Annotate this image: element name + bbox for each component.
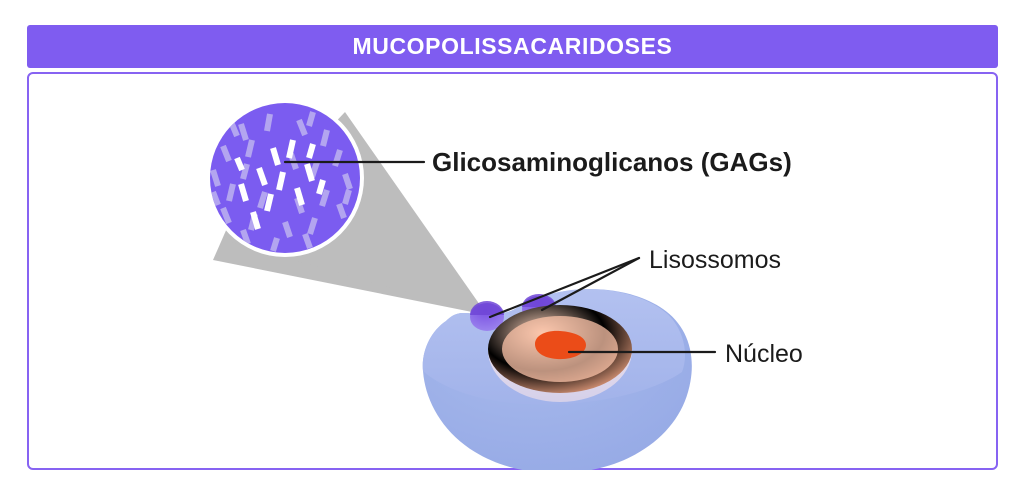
infographic-header-bar: MUCOPOLISSACARIDOSES: [27, 25, 998, 68]
infographic-canvas: MUCOPOLISSACARIDOSES: [0, 0, 1024, 495]
infographic-body-frame: [27, 72, 998, 470]
page-title: MUCOPOLISSACARIDOSES: [353, 35, 673, 58]
